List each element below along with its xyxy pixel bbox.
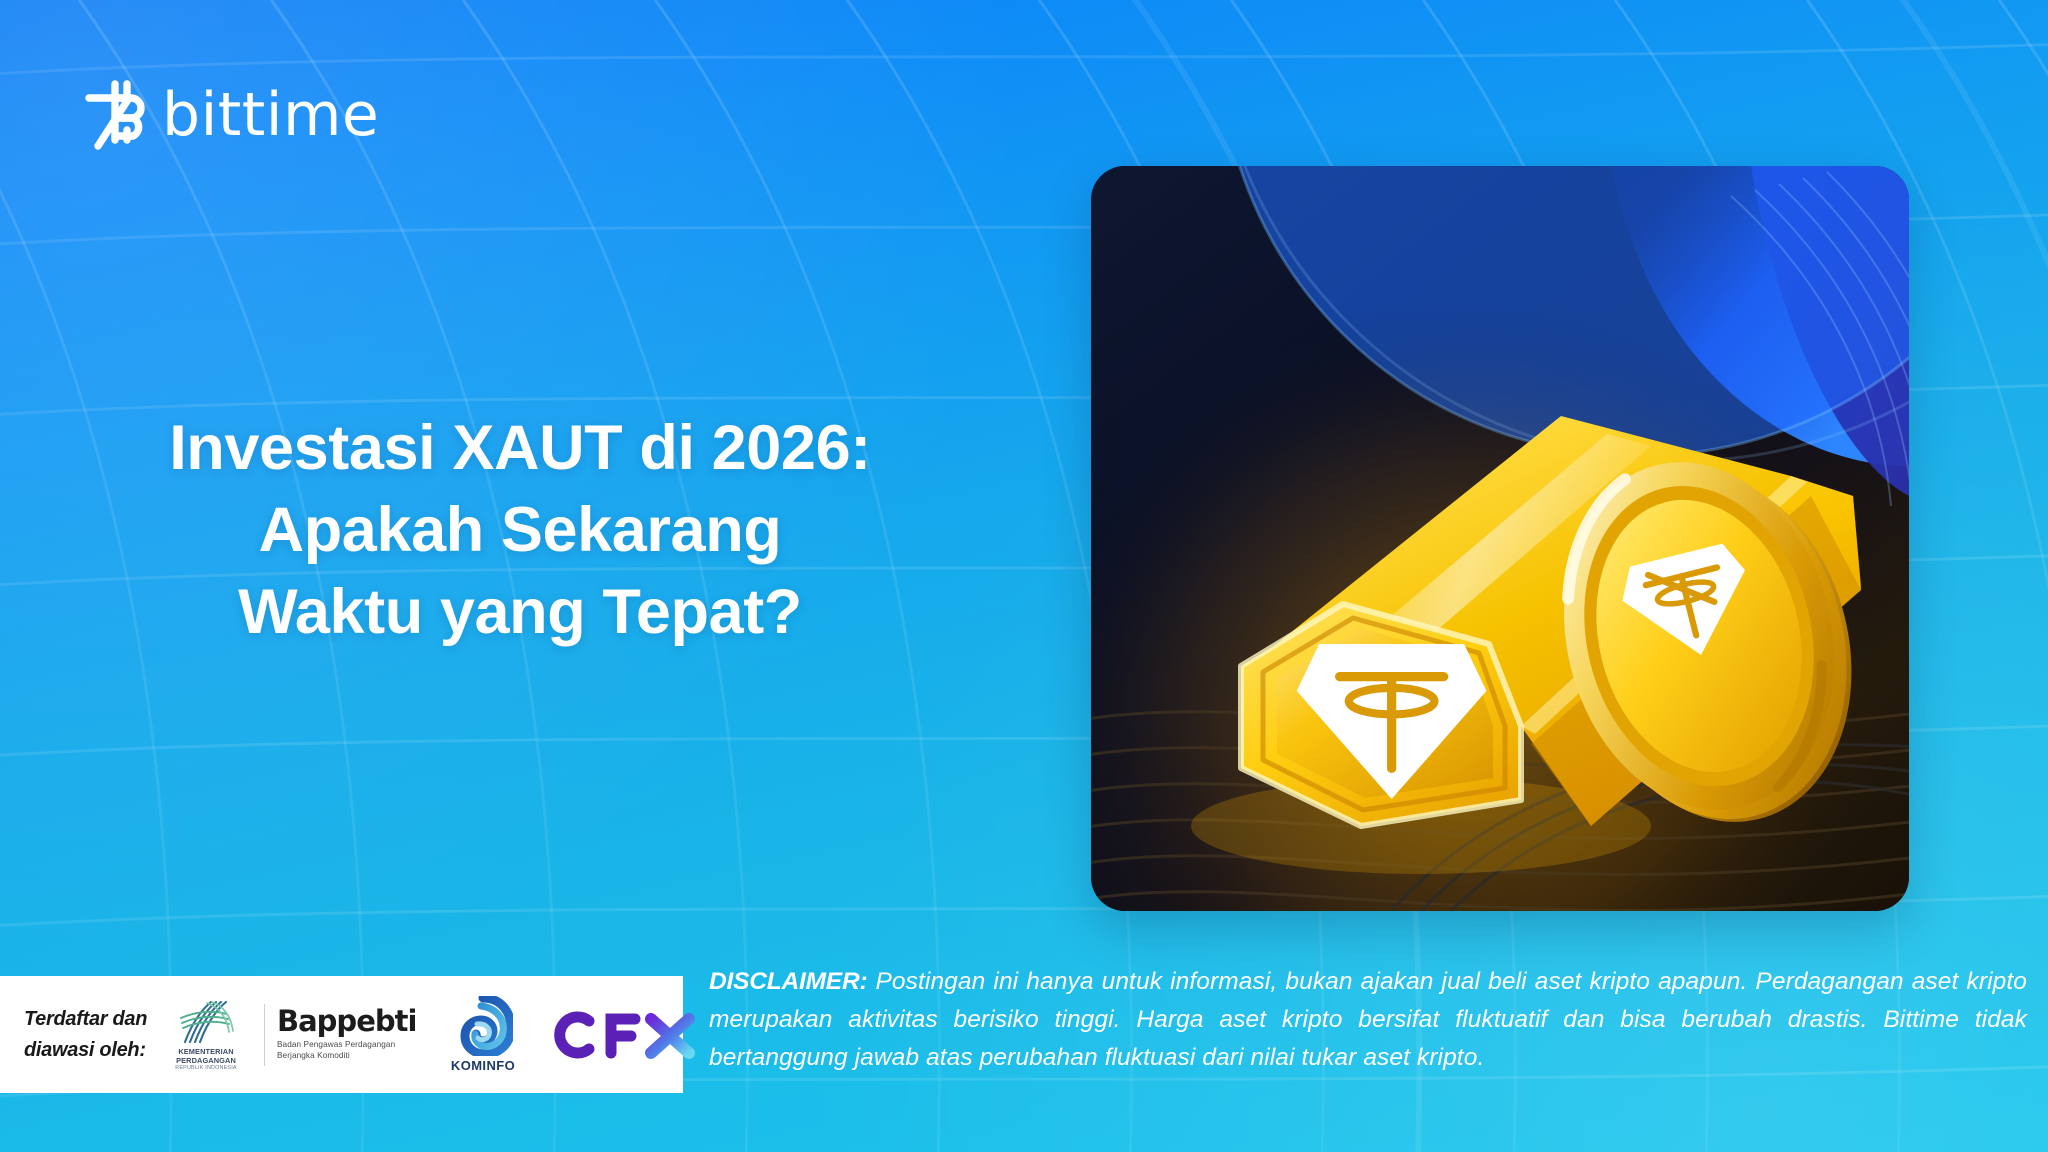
kemendag-line-2: PERDAGANGAN (175, 1056, 236, 1065)
bappebti-subtitle: Badan Pengawas Perdagangan Berjangka Kom… (277, 1040, 429, 1062)
headline-line-2: Apakah Sekarang (60, 490, 980, 572)
regulator-badge-bar: Terdaftar dan diawasi oleh: (0, 976, 683, 1093)
badge-divider (264, 1004, 265, 1066)
kominfo-logo: KOMINFO (435, 996, 531, 1073)
regulator-caption: Terdaftar dan diawasi oleh: (24, 1004, 160, 1066)
bappebti-sub-line-2: Berjangka Komoditi (277, 1051, 429, 1062)
bappebti-wordmark: Bappebti (277, 1007, 429, 1036)
xaut-gold-bar-illustration (1091, 166, 1909, 911)
kemendag-emblem-icon (177, 998, 235, 1044)
kominfo-wordmark: KOMINFO (451, 1058, 515, 1073)
regulator-caption-line-2: diawasi oleh: (24, 1035, 160, 1066)
bittime-b-icon (84, 78, 146, 152)
headline-line-1: Investasi XAUT di 2026: (60, 408, 980, 490)
poster-canvas: bittime Investasi XAUT di 2026: Apakah S… (0, 0, 2048, 1152)
kemendag-label: KEMENTERIAN PERDAGANGAN REPUBLIK INDONES… (175, 1047, 236, 1072)
regulator-caption-line-1: Terdaftar dan (24, 1004, 160, 1035)
kominfo-emblem-icon (453, 996, 513, 1056)
kemendag-line-1: KEMENTERIAN (175, 1047, 236, 1056)
disclaimer-body: Postingan ini hanya untuk informasi, buk… (709, 968, 2027, 1071)
bittime-wordmark: bittime (162, 85, 379, 145)
bappebti-sub-line-1: Badan Pengawas Perdagangan (277, 1040, 429, 1051)
cfx-wordmark-icon (549, 1007, 699, 1063)
bappebti-logo: Bappebti Badan Pengawas Perdagangan Berj… (277, 1007, 429, 1062)
kemendag-line-3: REPUBLIK INDONESIA (175, 1065, 236, 1072)
disclaimer-text: DISCLAIMER: Postingan ini hanya untuk in… (709, 963, 2027, 1078)
kemendag-logo: KEMENTERIAN PERDAGANGAN REPUBLIK INDONES… (160, 998, 252, 1072)
bittime-logo[interactable]: bittime (84, 78, 379, 152)
disclaimer-label: DISCLAIMER: (709, 968, 867, 995)
hero-image-card (1091, 166, 1909, 911)
headline-line-3: Waktu yang Tepat? (60, 572, 980, 654)
page-title: Investasi XAUT di 2026: Apakah Sekarang … (60, 408, 980, 654)
cfx-logo (549, 1007, 699, 1063)
